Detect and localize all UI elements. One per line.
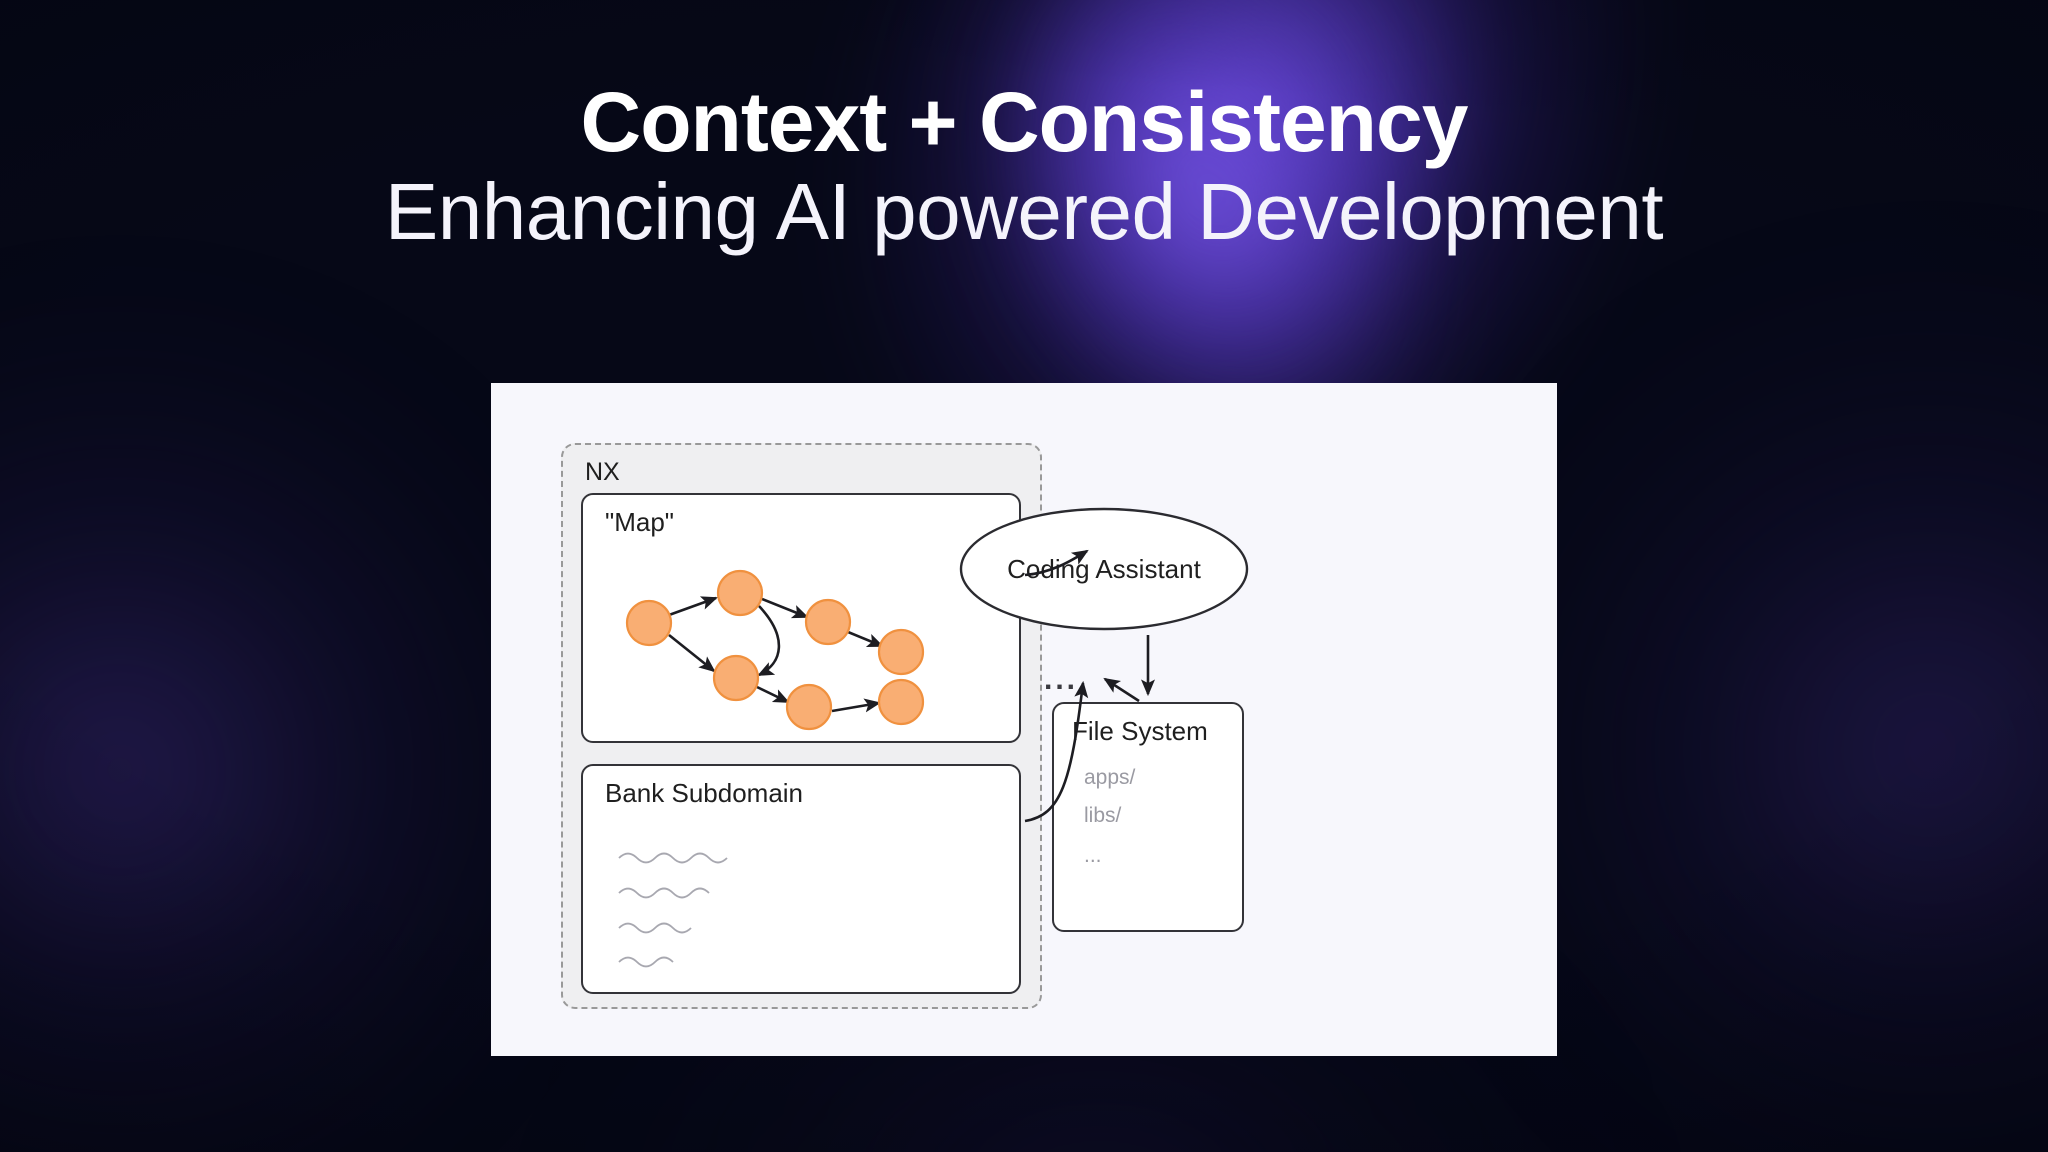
slide-subtitle: Enhancing AI powered Development: [0, 168, 2048, 256]
graph-edges: [669, 598, 882, 711]
graph-node: [718, 571, 762, 615]
file-system-card[interactable]: File System apps/ libs/ ...: [1052, 702, 1244, 932]
graph-node: [627, 601, 671, 645]
graph-nodes: [627, 571, 923, 729]
graph-node: [879, 630, 923, 674]
graph-ellipsis: ...: [1044, 665, 1078, 695]
placeholder-text-waves: [583, 766, 1023, 996]
graph-node: [714, 656, 758, 700]
coding-assistant-node[interactable]: Coding Assistant: [959, 507, 1249, 631]
graph-node: [879, 680, 923, 724]
file-system-item: ...: [1084, 844, 1102, 868]
coding-assistant-label: Coding Assistant: [959, 507, 1249, 631]
map-card[interactable]: "Map": [581, 493, 1021, 743]
file-system-item: apps/: [1084, 766, 1135, 790]
slide-title: Context + Consistency: [0, 78, 2048, 166]
file-system-label: File System: [1072, 716, 1208, 747]
background-glow-right: [1480, 300, 2048, 1152]
bank-subdomain-card[interactable]: Bank Subdomain: [581, 764, 1021, 994]
architecture-diagram: NX "Map": [491, 383, 1557, 1056]
background-glow-left: [0, 330, 560, 1152]
graph-node: [787, 685, 831, 729]
diagram-panel: NX "Map": [491, 383, 1557, 1056]
connector-filesystem-to-assistant: [1105, 679, 1139, 701]
nx-group-label: NX: [585, 458, 620, 487]
file-system-item: libs/: [1084, 804, 1121, 828]
graph-node: [806, 600, 850, 644]
dependency-graph: [583, 495, 1023, 745]
slide-canvas: Context + Consistency Enhancing AI power…: [0, 0, 2048, 1152]
